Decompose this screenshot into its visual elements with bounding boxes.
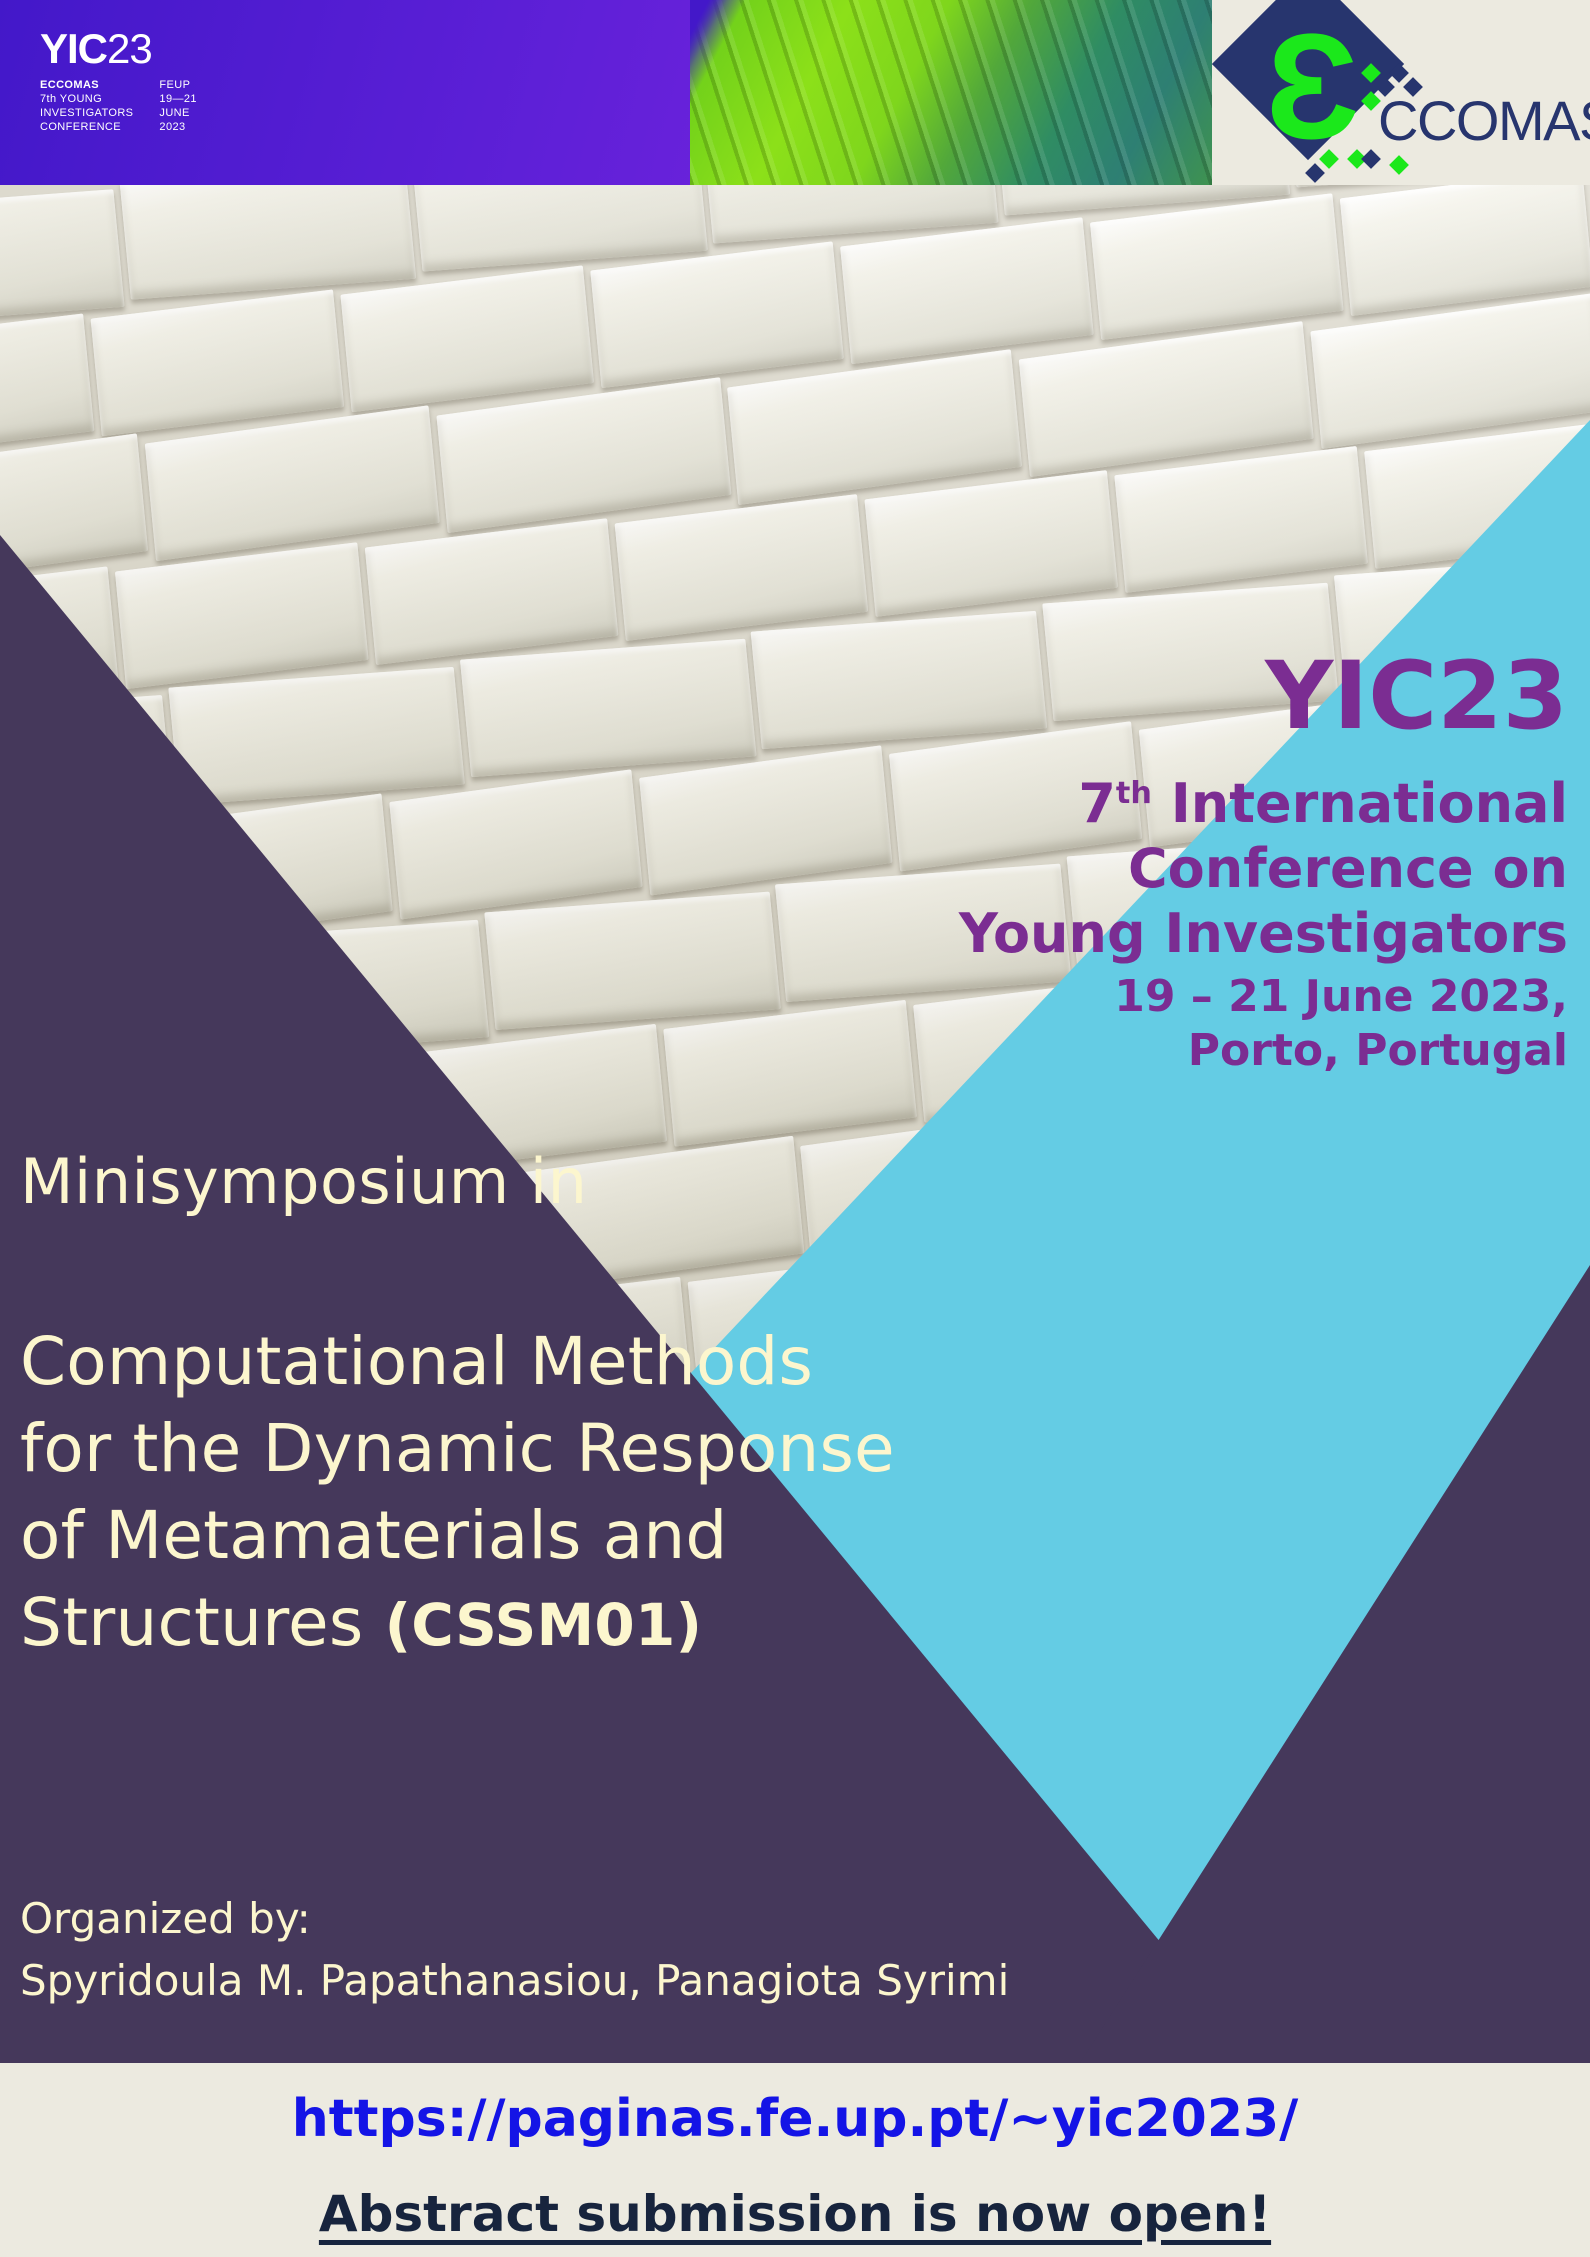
conference-acronym: YIC23 bbox=[928, 650, 1568, 744]
banner-line-young-word: YOUNG bbox=[57, 93, 103, 105]
eccomas-logo: Ɛ CCOMAS bbox=[1212, 0, 1590, 185]
yic23-banner-subtitle: ECCOMAS 7th YOUNG INVESTIGATORS CONFEREN… bbox=[40, 78, 197, 134]
yic23-banner-logo-text: YIC23 bbox=[40, 28, 197, 70]
organizers-names: Spyridoula M. Papathanasiou, Panagiota S… bbox=[20, 1950, 1009, 2012]
banner-photo-green bbox=[690, 0, 1212, 185]
banner-month: JUNE bbox=[159, 106, 196, 120]
minisymposium-title-line2: for the Dynamic Response bbox=[20, 1405, 1150, 1492]
footer-bar: https://paginas.fe.up.pt/~yic2023/ Abstr… bbox=[0, 2063, 1590, 2257]
yic23-banner-logo: YIC23 ECCOMAS 7th YOUNG INVESTIGATORS CO… bbox=[40, 28, 197, 134]
yic23-banner-subtitle-right: FEUP 19—21 JUNE 2023 bbox=[159, 78, 196, 134]
banner-line-conference: CONFERENCE bbox=[40, 120, 133, 134]
conference-poster: YIC23 ECCOMAS 7th YOUNG INVESTIGATORS CO… bbox=[0, 0, 1590, 2257]
banner-year: 2023 bbox=[159, 120, 196, 134]
conference-title-line1: International bbox=[1152, 772, 1568, 835]
minisymposium-title: Computational Methods for the Dynamic Re… bbox=[20, 1318, 1150, 1666]
conference-dates: 19 – 21 June 2023, bbox=[928, 970, 1568, 1024]
conference-title-line3: Young Investigators bbox=[959, 902, 1568, 965]
banner-line-investigators: INVESTIGATORS bbox=[40, 106, 133, 120]
conference-title: 7th International Conference on Young In… bbox=[928, 772, 1568, 966]
conference-title-line2: Conference on bbox=[1128, 837, 1568, 900]
eccomas-wordmark: CCOMAS bbox=[1378, 88, 1590, 153]
minisymposium-kicker: Minisymposium in bbox=[20, 1145, 587, 1218]
conference-when-where: 19 – 21 June 2023, Porto, Portugal bbox=[928, 970, 1568, 1077]
yic23-banner-subtitle-left: ECCOMAS 7th YOUNG INVESTIGATORS CONFEREN… bbox=[40, 78, 133, 134]
minisymposium-code: (CSSM01) bbox=[385, 1591, 703, 1659]
minisymposium-title-line3: of Metamaterials and bbox=[20, 1492, 1150, 1579]
minisymposium-title-line4-text: Structures bbox=[20, 1584, 385, 1661]
yic23-banner-logo-main: YIC bbox=[40, 25, 107, 72]
minisymposium-title-line1: Computational Methods bbox=[20, 1318, 1150, 1405]
conference-info-block: YIC23 7th International Conference on Yo… bbox=[928, 650, 1568, 1078]
banner-venue: FEUP bbox=[159, 78, 196, 92]
yic23-banner-logo-year: 23 bbox=[107, 25, 152, 72]
minisymposium-title-line4: Structures (CSSM01) bbox=[20, 1579, 1150, 1666]
organizers-block: Organized by: Spyridoula M. Papathanasio… bbox=[20, 1888, 1009, 2012]
eccomas-epsilon-icon: Ɛ bbox=[1265, 27, 1357, 149]
conference-ordinal: 7 bbox=[1078, 772, 1116, 835]
conference-location: Porto, Portugal bbox=[928, 1024, 1568, 1078]
banner-dates: 19—21 bbox=[159, 92, 196, 106]
yic23-banner: YIC23 ECCOMAS 7th YOUNG INVESTIGATORS CO… bbox=[0, 0, 1212, 185]
abstract-submission-cta[interactable]: Abstract submission is now open! bbox=[0, 2185, 1590, 2243]
banner-line-eccomas: ECCOMAS bbox=[40, 78, 133, 92]
organized-by-label: Organized by: bbox=[20, 1888, 1009, 1950]
banner-line-young: 7th YOUNG bbox=[40, 92, 133, 106]
banner-line-young-ordinal: 7th bbox=[40, 93, 57, 105]
conference-ordinal-suffix: th bbox=[1116, 776, 1152, 811]
conference-website-link[interactable]: https://paginas.fe.up.pt/~yic2023/ bbox=[0, 2089, 1590, 2149]
eccomas-pixel-icon bbox=[1389, 155, 1409, 175]
